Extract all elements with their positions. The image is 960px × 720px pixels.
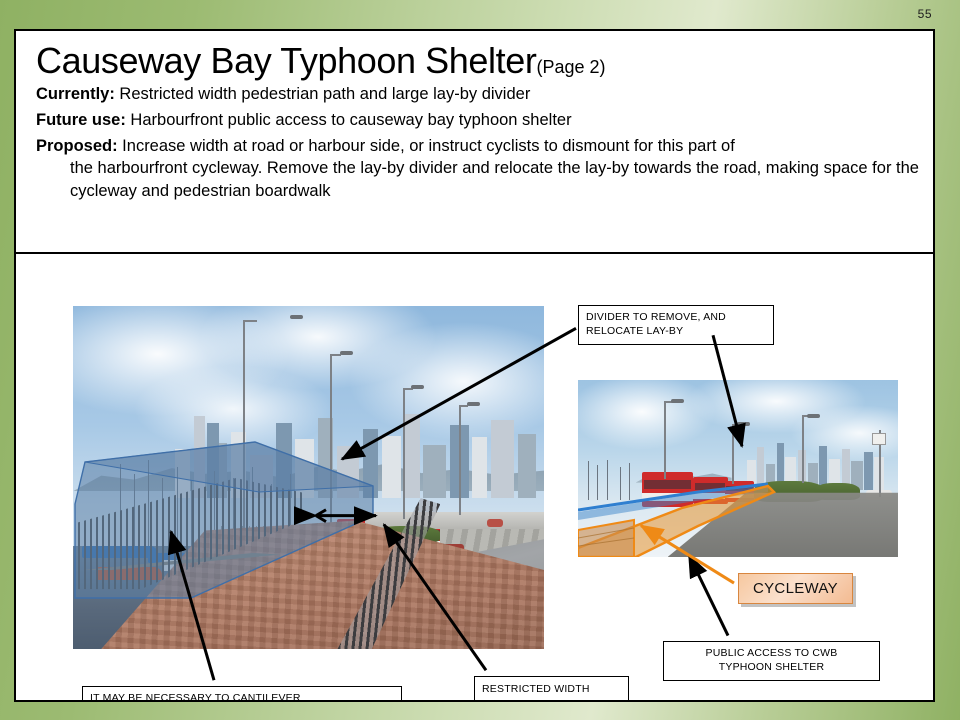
slide-canvas: 55 Causeway Bay Typhoon Shelter(Page 2) … [0,0,960,720]
title-suffix-text: (Page 2) [536,57,605,77]
callout-line-1: RESTRICTED WIDTH [482,683,621,697]
callout-line-2: TYPHOON SHELTER [671,661,872,675]
slide-frame: Causeway Bay Typhoon Shelter(Page 2) Cur… [14,29,935,702]
header-row-proposed: Proposed: Increase width at road or harb… [36,135,919,203]
text-future-use: Harbourfront public access to causeway b… [126,111,572,129]
proposal-overlay [578,380,898,557]
callout-line-2: RELOCATE LAY-BY [586,325,766,339]
callout-divider-to-remove[interactable]: DIVIDER TO REMOVE, AND RELOCATE LAY-BY [578,305,774,345]
proposed-photomontage [578,380,898,557]
callout-line-1: PUBLIC ACCESS TO CWB [671,647,872,661]
header-row-future-use: Future use: Harbourfront public access t… [36,109,919,132]
existing-condition-photo [73,306,544,649]
label-currently: Currently: [36,85,115,103]
content-area: DIVIDER TO REMOVE, AND RELOCATE LAY-BY P… [16,256,933,700]
cycleway-badge[interactable]: CYCLEWAY [738,573,853,604]
text-currently: Restricted width pedestrian path and lar… [115,85,530,103]
cycleway-badge-label: CYCLEWAY [753,580,838,597]
callout-line-1: DIVIDER TO REMOVE, AND [586,311,766,325]
callout-cantilever[interactable]: IT MAY BE NECESSARY TO CANTILEVER WALKWA… [82,686,402,700]
callout-public-access[interactable]: PUBLIC ACCESS TO CWB TYPHOON SHELTER [663,641,880,681]
callout-restricted-width[interactable]: RESTRICTED WIDTH [474,676,629,700]
header-row-currently: Currently: Restricted width pedestrian p… [36,83,919,106]
title-main-text: Causeway Bay Typhoon Shelter [36,40,536,81]
text-proposed-continuation: the harbourfront cycleway. Remove the la… [36,157,919,203]
page-title: Causeway Bay Typhoon Shelter(Page 2) [36,43,919,79]
text-proposed: Increase width at road or harbour side, … [118,137,735,155]
header-text-block: Causeway Bay Typhoon Shelter(Page 2) Cur… [16,31,933,254]
cantilever-overlay [73,306,544,649]
callout-line-1: IT MAY BE NECESSARY TO CANTILEVER [90,692,394,700]
label-proposed: Proposed: [36,137,118,155]
label-future-use: Future use: [36,111,126,129]
page-number: 55 [918,7,932,21]
